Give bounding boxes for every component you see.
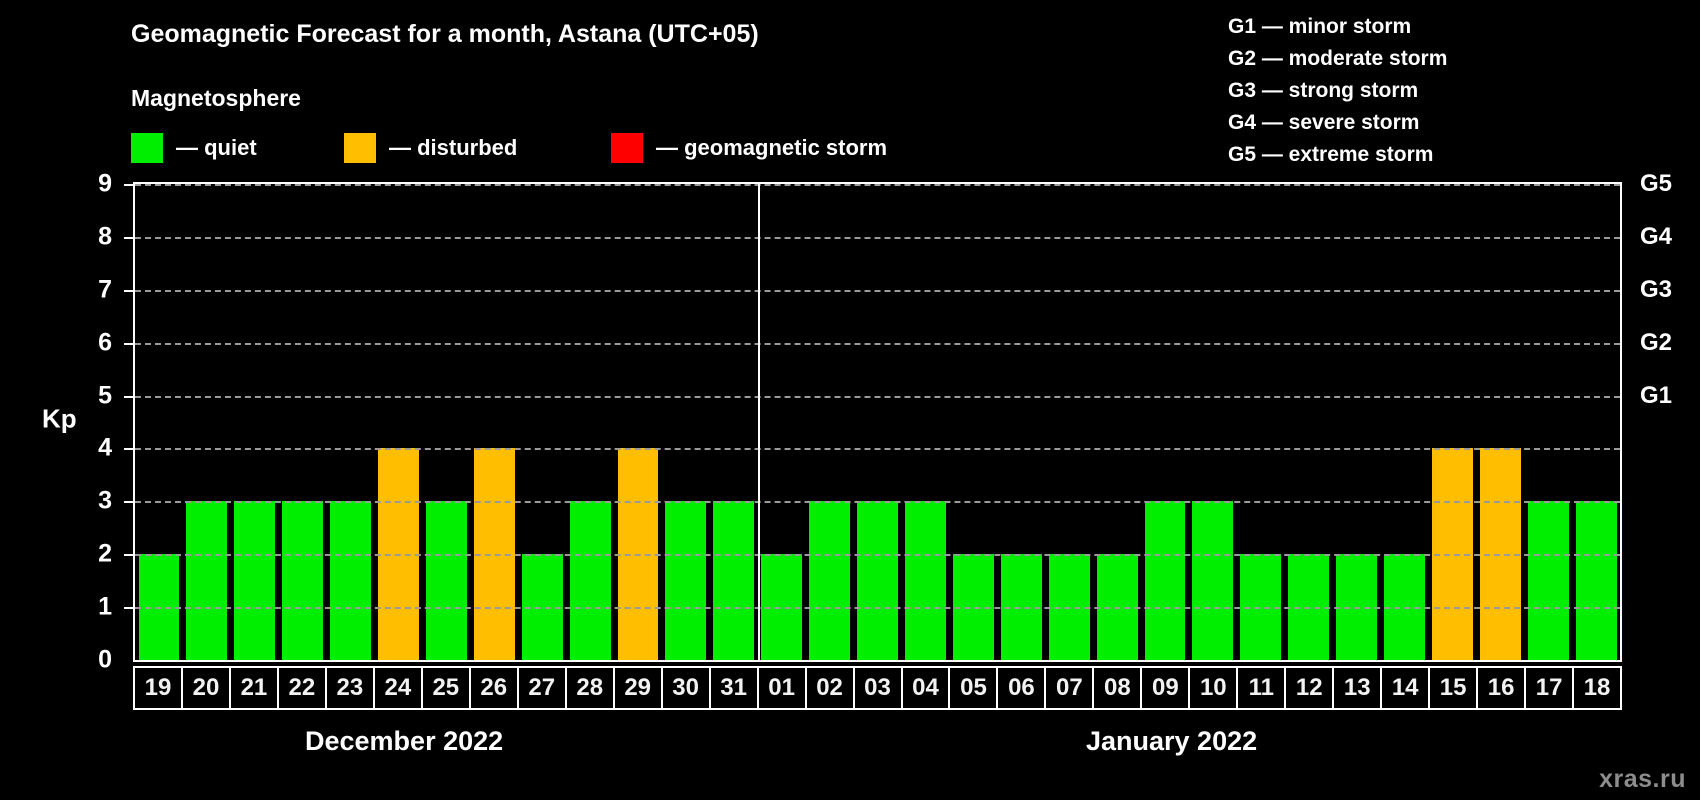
bar-series xyxy=(135,184,1620,660)
bar-cell xyxy=(1237,184,1285,660)
y-tick-label-7: 7 xyxy=(72,275,112,304)
bar-cell xyxy=(1093,184,1141,660)
bar-cell xyxy=(1524,184,1572,660)
bar-21 xyxy=(234,501,275,660)
storm-scale-line-1: G1 — minor storm xyxy=(1228,11,1447,43)
day-label: 05 xyxy=(960,674,987,702)
month-label-december: December 2022 xyxy=(305,726,503,757)
g-axis-label-G2: G2 xyxy=(1640,329,1672,357)
day-cell-07: 07 xyxy=(1044,666,1094,710)
storm-scale-line-4: G4 — severe storm xyxy=(1228,107,1447,139)
legend-label: — disturbed xyxy=(389,135,517,161)
day-cell-15: 15 xyxy=(1428,666,1478,710)
bar-cell xyxy=(1476,184,1524,660)
day-label: 15 xyxy=(1440,674,1467,702)
legend-item-2: — geomagnetic storm xyxy=(611,132,887,164)
g-axis-label-G5: G5 xyxy=(1640,170,1672,198)
day-cell-12: 12 xyxy=(1284,666,1334,710)
gridline-9 xyxy=(135,184,1620,186)
bar-04 xyxy=(905,501,946,660)
day-label: 22 xyxy=(289,674,316,702)
bar-cell xyxy=(183,184,231,660)
bar-cell xyxy=(854,184,902,660)
day-cell-31: 31 xyxy=(709,666,759,710)
bar-cell xyxy=(518,184,566,660)
day-cell-22: 22 xyxy=(277,666,327,710)
y-tick-4 xyxy=(124,448,133,450)
y-tick-label-5: 5 xyxy=(72,381,112,410)
bar-23 xyxy=(330,501,371,660)
day-label: 13 xyxy=(1344,674,1371,702)
day-cell-16: 16 xyxy=(1476,666,1526,710)
y-tick-3 xyxy=(124,501,133,503)
day-label: 03 xyxy=(864,674,891,702)
legend-swatch-icon xyxy=(131,133,163,163)
y-tick-label-9: 9 xyxy=(72,170,112,199)
bar-17 xyxy=(1528,501,1569,660)
y-tick-1 xyxy=(124,607,133,609)
day-cell-08: 08 xyxy=(1092,666,1142,710)
day-label: 19 xyxy=(145,674,172,702)
bar-10 xyxy=(1192,501,1233,660)
legend-item-0: — quiet xyxy=(131,132,257,164)
legend-swatch-icon xyxy=(344,133,376,163)
bar-09 xyxy=(1145,501,1186,660)
day-label: 20 xyxy=(193,674,220,702)
bar-cell xyxy=(135,184,183,660)
day-cell-27: 27 xyxy=(517,666,567,710)
bar-cell xyxy=(902,184,950,660)
day-cell-04: 04 xyxy=(901,666,951,710)
day-cell-05: 05 xyxy=(948,666,998,710)
y-tick-label-2: 2 xyxy=(72,540,112,569)
day-cell-26: 26 xyxy=(469,666,519,710)
bar-22 xyxy=(282,501,323,660)
bar-cell xyxy=(1333,184,1381,660)
legend-label: — quiet xyxy=(176,135,257,161)
day-label: 08 xyxy=(1104,674,1131,702)
day-label: 18 xyxy=(1584,674,1611,702)
y-tick-6 xyxy=(124,343,133,345)
day-cell-29: 29 xyxy=(613,666,663,710)
day-label: 17 xyxy=(1536,674,1563,702)
day-label: 27 xyxy=(528,674,555,702)
day-cell-01: 01 xyxy=(757,666,807,710)
bar-20 xyxy=(186,501,227,660)
bar-28 xyxy=(570,501,611,660)
plot-area xyxy=(133,182,1622,662)
g-axis-label-G4: G4 xyxy=(1640,223,1672,251)
day-label: 28 xyxy=(576,674,603,702)
day-label: 10 xyxy=(1200,674,1227,702)
day-cell-03: 03 xyxy=(853,666,903,710)
watermark: xras.ru xyxy=(1599,765,1686,794)
day-cell-30: 30 xyxy=(661,666,711,710)
y-tick-8 xyxy=(124,237,133,239)
day-cell-28: 28 xyxy=(565,666,615,710)
bar-cell xyxy=(566,184,614,660)
day-label: 11 xyxy=(1249,674,1274,702)
gridline-1 xyxy=(135,607,1620,609)
day-label: 09 xyxy=(1152,674,1179,702)
y-tick-label-4: 4 xyxy=(72,434,112,463)
bar-cell xyxy=(806,184,854,660)
day-cell-21: 21 xyxy=(229,666,279,710)
page-title: Geomagnetic Forecast for a month, Astana… xyxy=(131,20,759,49)
bar-cell xyxy=(1141,184,1189,660)
day-cell-17: 17 xyxy=(1524,666,1574,710)
bar-cell xyxy=(1285,184,1333,660)
gridline-4 xyxy=(135,448,1620,450)
day-label: 25 xyxy=(432,674,459,702)
bar-cell xyxy=(231,184,279,660)
bar-cell xyxy=(710,184,758,660)
y-tick-9 xyxy=(124,184,133,186)
day-cell-13: 13 xyxy=(1332,666,1382,710)
bar-31 xyxy=(713,501,754,660)
legend-swatch-icon xyxy=(611,133,643,163)
month-divider xyxy=(758,184,760,660)
day-label: 07 xyxy=(1056,674,1083,702)
day-label: 26 xyxy=(480,674,507,702)
bar-cell xyxy=(614,184,662,660)
bar-cell xyxy=(758,184,806,660)
day-label-strip: 1920212223242526272829303101020304050607… xyxy=(133,666,1622,710)
g-axis-label-G1: G1 xyxy=(1640,382,1672,410)
day-label: 29 xyxy=(624,674,651,702)
gridline-6 xyxy=(135,343,1620,345)
day-cell-23: 23 xyxy=(325,666,375,710)
month-label-january: January 2022 xyxy=(1086,726,1257,757)
day-label: 23 xyxy=(337,674,364,702)
day-label: 01 xyxy=(768,674,795,702)
storm-scale-line-3: G3 — strong storm xyxy=(1228,75,1447,107)
day-label: 31 xyxy=(720,674,747,702)
bar-25 xyxy=(426,501,467,660)
y-tick-label-8: 8 xyxy=(72,222,112,251)
bar-cell xyxy=(470,184,518,660)
day-label: 24 xyxy=(384,674,411,702)
day-cell-09: 09 xyxy=(1140,666,1190,710)
geomagnetic-forecast-chart: Geomagnetic Forecast for a month, Astana… xyxy=(0,0,1700,800)
day-cell-24: 24 xyxy=(373,666,423,710)
day-cell-02: 02 xyxy=(805,666,855,710)
gridline-2 xyxy=(135,554,1620,556)
bar-cell xyxy=(375,184,423,660)
day-label: 21 xyxy=(241,674,268,702)
bar-cell xyxy=(279,184,327,660)
bar-cell xyxy=(1189,184,1237,660)
bar-03 xyxy=(857,501,898,660)
y-tick-7 xyxy=(124,290,133,292)
day-label: 16 xyxy=(1488,674,1515,702)
gridline-5 xyxy=(135,396,1620,398)
day-label: 30 xyxy=(672,674,699,702)
gridline-3 xyxy=(135,501,1620,503)
bar-cell xyxy=(949,184,997,660)
day-cell-11: 11 xyxy=(1236,666,1286,710)
bar-cell xyxy=(327,184,375,660)
bar-cell xyxy=(1381,184,1429,660)
storm-scale-line-2: G2 — moderate storm xyxy=(1228,43,1447,75)
day-label: 14 xyxy=(1392,674,1419,702)
day-label: 04 xyxy=(912,674,939,702)
y-axis-title: Kp xyxy=(42,404,77,435)
day-label: 02 xyxy=(816,674,843,702)
legend-label: — geomagnetic storm xyxy=(656,135,887,161)
day-cell-10: 10 xyxy=(1188,666,1238,710)
day-cell-18: 18 xyxy=(1572,666,1622,710)
storm-scale-legend: G1 — minor stormG2 — moderate stormG3 — … xyxy=(1228,11,1447,171)
gridline-8 xyxy=(135,237,1620,239)
y-tick-label-3: 3 xyxy=(72,487,112,516)
day-label: 12 xyxy=(1296,674,1323,702)
y-tick-label-6: 6 xyxy=(72,328,112,357)
legend-item-1: — disturbed xyxy=(344,132,517,164)
day-cell-19: 19 xyxy=(133,666,183,710)
bar-cell xyxy=(1572,184,1620,660)
storm-scale-line-5: G5 — extreme storm xyxy=(1228,139,1447,171)
bar-cell xyxy=(1428,184,1476,660)
bar-cell xyxy=(997,184,1045,660)
bar-30 xyxy=(665,501,706,660)
day-cell-06: 06 xyxy=(996,666,1046,710)
y-tick-2 xyxy=(124,554,133,556)
bar-02 xyxy=(809,501,850,660)
day-cell-25: 25 xyxy=(421,666,471,710)
bar-18 xyxy=(1576,501,1617,660)
g-axis-label-G3: G3 xyxy=(1640,276,1672,304)
y-tick-label-0: 0 xyxy=(72,646,112,675)
day-label: 06 xyxy=(1008,674,1035,702)
bar-cell xyxy=(662,184,710,660)
chart-subtitle: Magnetosphere xyxy=(131,85,301,112)
bar-cell xyxy=(1045,184,1093,660)
y-tick-label-1: 1 xyxy=(72,593,112,622)
y-tick-5 xyxy=(124,396,133,398)
gridline-7 xyxy=(135,290,1620,292)
bar-cell xyxy=(422,184,470,660)
day-cell-14: 14 xyxy=(1380,666,1430,710)
day-cell-20: 20 xyxy=(181,666,231,710)
